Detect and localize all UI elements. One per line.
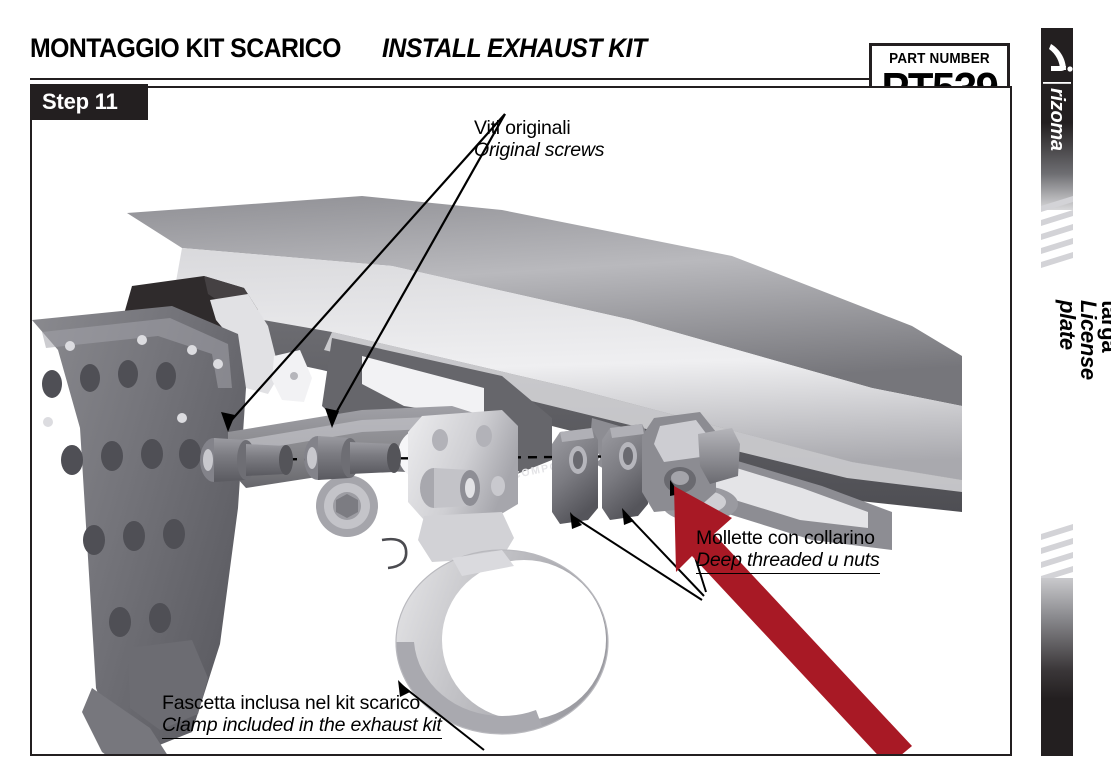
figure-frame: INNOVATIVE COMPONENTS <box>30 86 1012 756</box>
page-title: MONTAGGIO KIT SCARICOINSTALL EXHAUST KIT <box>30 33 670 64</box>
callout-screws-english: Original screws <box>474 140 604 162</box>
page-title-english: INSTALL EXHAUST KIT <box>382 33 647 64</box>
page-title-italian: MONTAGGIO KIT SCARICO <box>30 33 341 64</box>
bracket-collar <box>420 468 480 508</box>
assembly-illustration: INNOVATIVE COMPONENTS <box>32 88 1010 754</box>
rizoma-wordmark: rizoma <box>1041 88 1073 174</box>
callout-u-nuts: Mollette con collarino Deep threaded u n… <box>696 528 880 574</box>
callout-original-screws: Viti originali Original screws <box>474 118 604 162</box>
callout-unuts-english: Deep threaded u nuts <box>696 550 880 574</box>
sidebar-bottom-gradient <box>1041 578 1073 756</box>
brand-sidebar: rizoma Porta targa License plate <box>1037 0 1077 781</box>
callout-clamp-english: Clamp included in the exhaust kit <box>162 715 442 739</box>
callout-clamp-italian: Fascetta inclusa nel kit scarico <box>162 693 442 715</box>
product-name-english: License plate <box>1055 300 1101 380</box>
hanger-hole <box>290 372 298 380</box>
u-nut-1 <box>552 428 598 524</box>
step-badge: Step 11 <box>30 84 148 120</box>
callout-clamp: Fascetta inclusa nel kit scarico Clamp i… <box>162 693 442 739</box>
logo-stripes-top <box>1041 196 1073 268</box>
header-divider <box>30 78 870 80</box>
product-name-vertical: Porta targa License plate <box>975 300 1111 340</box>
u-nut-2 <box>602 424 648 520</box>
arm-hook-detail <box>382 539 406 568</box>
callout-screws-italian: Viti originali <box>474 118 604 140</box>
callout-unuts-italian: Mollette con collarino <box>696 528 880 550</box>
rizoma-logo-mark <box>1041 30 1073 86</box>
pivot-bolt <box>316 475 378 537</box>
